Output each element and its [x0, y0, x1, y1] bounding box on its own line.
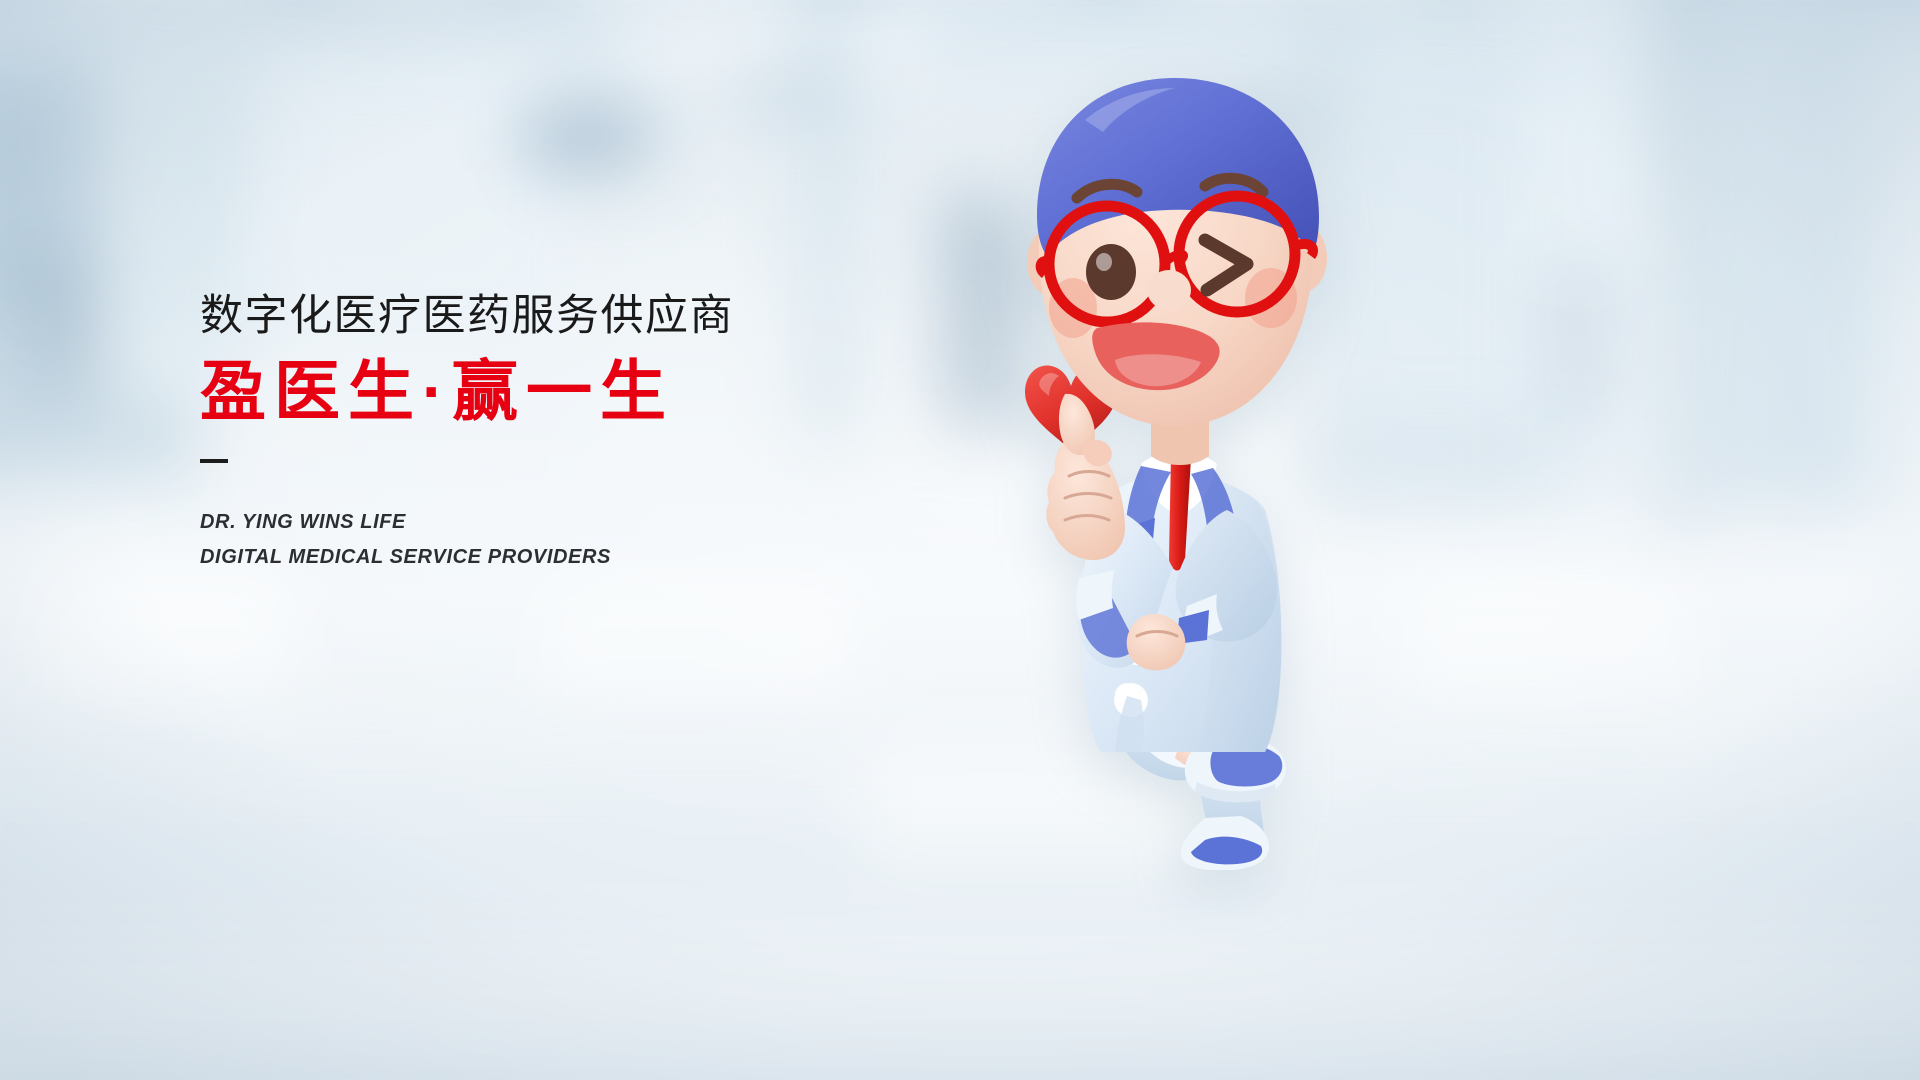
subtitle-line-2: DIGITAL MEDICAL SERVICE PROVIDERS: [200, 540, 1020, 575]
hero-copy: 数字化医疗医药服务供应商 盈医生·赢一生 DR. YING WINS LIFE …: [200, 292, 1020, 575]
subtitle-block: DR. YING WINS LIFE DIGITAL MEDICAL SERVI…: [200, 505, 1020, 575]
eye-open: [1086, 244, 1136, 300]
subtitle-line-1: DR. YING WINS LIFE: [200, 505, 1020, 540]
divider-rule: [200, 459, 228, 463]
brand-slogan: 盈医生·赢一生: [200, 355, 1020, 429]
nose: [1147, 270, 1191, 310]
page-headline: 数字化医疗医药服务供应商: [200, 292, 1020, 341]
doctor-mascot-illustration: [965, 40, 1385, 870]
head: [1027, 78, 1327, 426]
hero-banner: 数字化医疗医药服务供应商 盈医生·赢一生 DR. YING WINS LIFE …: [0, 0, 1920, 1080]
